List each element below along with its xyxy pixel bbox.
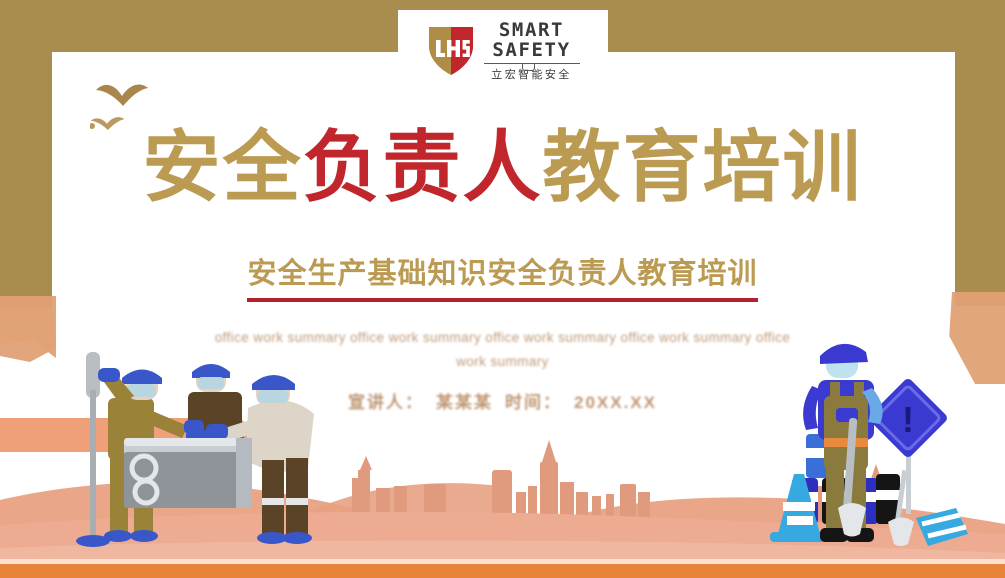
brand-logo: SMART SAFETY 立宏智能安全 [398,10,608,92]
title-part-3: 教育培训 [543,123,863,211]
title-part-1: 安全 [142,123,302,211]
lhs-shield-icon [427,24,475,78]
brand-line-chinese: 立宏智能安全 [491,70,571,81]
brand-divider-rule [484,63,580,64]
left-worker-group [76,352,314,547]
page-title: 安全负责人教育培训 [0,128,1005,206]
brand-line-smart: SMART [499,21,564,40]
summary-blurb: office work summary office work summary … [203,326,803,374]
speaker-label: 宣讲人： [348,393,424,412]
brand-wordmark: SMART SAFETY 立宏智能安全 [484,21,580,81]
title-part-2: 负责人 [302,123,542,211]
date-value: 20XX.XX [574,393,657,412]
speaker-value: 某某某 [436,393,493,412]
brand-line-safety: SAFETY [492,41,570,60]
machine-unit [124,438,252,508]
page-subtitle: 安全生产基础知识安全负责人教育培训 [247,250,757,302]
blue-striped-debris [916,508,968,546]
traffic-cone-icon [770,474,828,542]
presentation-slide: SMART SAFETY 立宏智能安全 安全负责人教育培训 安全生产基础知识安全… [0,0,1005,578]
subtitle-container: 安全生产基础知识安全负责人教育培训 [0,250,1005,302]
presenter-meta: 宣讲人：某某某时间：20XX.XX [0,388,1005,413]
date-label: 时间： [505,393,562,412]
